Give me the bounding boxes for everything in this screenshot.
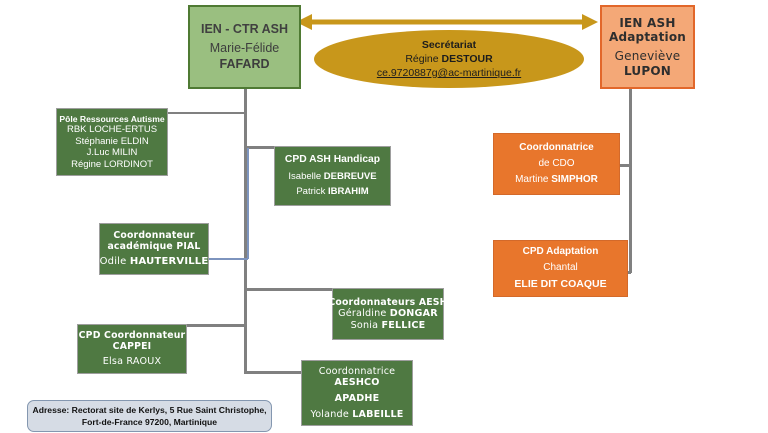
- node-cdo-person: Martine SIMPHOR: [515, 174, 598, 186]
- connector-branch-pole-autisme: [168, 112, 246, 114]
- node-secretariat-person-last: DESTOUR: [442, 53, 493, 65]
- node-coordonnateurs-aesh[interactable]: Coordonnateurs AESH Géraldine DONGAR Son…: [332, 288, 444, 340]
- node-coord-aesh-member-1-first: Sonia: [351, 320, 379, 331]
- node-ien-ash-adaptation-title-2: Adaptation: [609, 30, 686, 45]
- node-ien-ctr-ash[interactable]: IEN - CTR ASH Marie-Félide FAFARD: [188, 5, 301, 89]
- node-coord-aesh-title: Coordonnateurs AESH: [328, 297, 447, 308]
- node-coord-aesh-member-0: Géraldine DONGAR: [338, 308, 438, 320]
- node-cappei-person-first: Elsa: [103, 356, 123, 367]
- node-cpd-adaptation-title: CPD Adaptation: [523, 246, 599, 258]
- node-ien-ash-adaptation-person-last: LUPON: [624, 64, 671, 79]
- connector-branch-pial: [205, 258, 248, 260]
- address-line-2: Fort-de-France 97200, Martinique: [82, 416, 217, 428]
- node-ien-ctr-ash-person-first: Marie-Félide: [210, 41, 279, 56]
- node-cpd-coordonnateur-cappei[interactable]: CPD Coordonnateur CAPPEI Elsa RAOUX: [77, 324, 187, 374]
- node-cappei-title-1: CPD Coordonnateur: [79, 330, 186, 341]
- node-cpd-handicap-member-1-last: IBRAHIM: [328, 186, 369, 197]
- node-cpd-handicap-title: CPD ASH Handicap: [285, 154, 380, 167]
- node-coordonnateur-pial[interactable]: Coordonnateur académique PIAL Odile HAUT…: [99, 223, 209, 275]
- node-coordonnatrice-aeshco[interactable]: Coordonnatrice AESHCO APADHE Yolande LAB…: [301, 360, 413, 426]
- node-cpd-adaptation[interactable]: CPD Adaptation Chantal ELIE DIT COAQUE: [493, 240, 628, 297]
- node-ien-ash-adaptation-person-first: Geneviève: [615, 49, 681, 64]
- node-cdo-title-1: Coordonnatrice: [519, 142, 593, 154]
- address-box: Adresse: Rectorat site de Kerlys, 5 Rue …: [27, 400, 272, 432]
- node-pial-person: Odile HAUTERVILLE: [100, 256, 209, 268]
- node-cpd-adaptation-person-last: ELIE DIT COAQUE: [514, 278, 606, 291]
- node-cpd-handicap-member-0-first: Isabelle: [288, 171, 321, 182]
- node-aeshco-title-2: AESHCO: [334, 377, 379, 389]
- node-cdo-person-first: Martine: [515, 174, 548, 185]
- node-aeshco-person-last: LABEILLE: [352, 409, 403, 420]
- node-pial-title-2: académique PIAL: [107, 241, 200, 252]
- node-cpd-handicap-member-0-last: DEBREUVE: [324, 171, 377, 182]
- node-aeshco-title-3: APADHE: [335, 393, 380, 405]
- org-chart-canvas: IEN - CTR ASH Marie-Félide FAFARD IEN AS…: [0, 0, 768, 433]
- node-aeshco-person: Yolande LABEILLE: [310, 409, 403, 421]
- node-secretariat-title: Secrétariat: [422, 38, 476, 52]
- node-pial-person-first: Odile: [100, 256, 127, 267]
- node-pole-ressources-autisme[interactable]: Pôle Ressources Autisme RBK LOCHE-ERTUS …: [56, 108, 168, 176]
- node-pole-autisme-member-2: J.Luc MILIN: [87, 147, 138, 159]
- node-aeshco-title-1: Coordonnatrice: [319, 366, 396, 378]
- node-pole-autisme-member-0: RBK LOCHE-ERTUS: [67, 124, 157, 136]
- node-coordonnatrice-cdo[interactable]: Coordonnatrice de CDO Martine SIMPHOR: [493, 133, 620, 195]
- node-cappei-person-last: RAOUX: [126, 356, 161, 367]
- node-secretariat[interactable]: Secrétariat Régine DESTOUR ce.9720887g@a…: [314, 30, 584, 88]
- connector-branch-coord-aesh: [244, 288, 334, 291]
- node-cpd-handicap-member-0: Isabelle DEBREUVE: [288, 171, 376, 183]
- node-aeshco-person-first: Yolande: [310, 409, 348, 420]
- node-pole-autisme-member-3: Régine LORDINOT: [71, 159, 153, 171]
- node-coord-aesh-member-0-first: Géraldine: [338, 308, 386, 319]
- node-secretariat-person: Régine DESTOUR: [405, 52, 492, 66]
- connector-branch-coord-cdo: [619, 164, 631, 167]
- node-secretariat-person-first: Régine: [405, 53, 438, 65]
- node-ien-ash-adaptation[interactable]: IEN ASH Adaptation Geneviève LUPON: [600, 5, 695, 89]
- node-coord-aesh-member-1: Sonia FELLICE: [351, 320, 426, 332]
- node-cappei-title-2: CAPPEI: [113, 341, 152, 352]
- connector-right-trunk: [629, 88, 632, 273]
- node-cpd-ash-handicap[interactable]: CPD ASH Handicap Isabelle DEBREUVE Patri…: [274, 146, 391, 206]
- node-ien-ctr-ash-title: IEN - CTR ASH: [201, 22, 288, 37]
- node-cpd-adaptation-person-first: Chantal: [543, 262, 577, 274]
- connector-branch-cappei: [187, 324, 245, 327]
- connector-branch-aeshco: [244, 371, 302, 374]
- node-pial-person-last: HAUTERVILLE: [130, 256, 209, 267]
- node-pial-title-1: Coordonnateur: [113, 230, 194, 241]
- connector-secondary-vertical: [247, 148, 249, 259]
- node-pole-autisme-title: Pôle Ressources Autisme: [59, 114, 164, 124]
- node-cdo-person-last: SIMPHOR: [551, 174, 598, 185]
- address-line-1: Adresse: Rectorat site de Kerlys, 5 Rue …: [32, 404, 266, 416]
- node-cappei-person: Elsa RAOUX: [103, 356, 161, 368]
- connector-branch-cpd-handicap: [244, 146, 276, 149]
- node-ien-ash-adaptation-title-1: IEN ASH: [619, 16, 675, 31]
- node-ien-ctr-ash-person-last: FAFARD: [220, 57, 270, 72]
- node-cpd-handicap-member-1-first: Patrick: [296, 186, 325, 197]
- node-cpd-handicap-member-1: Patrick IBRAHIM: [296, 186, 368, 198]
- node-pole-autisme-member-1: Stéphanie ELDIN: [75, 136, 148, 148]
- node-coord-aesh-member-1-last: FELLICE: [381, 320, 425, 331]
- node-cdo-title-2: de CDO: [538, 158, 574, 170]
- node-secretariat-email[interactable]: ce.9720887g@ac-martinique.fr: [377, 66, 521, 80]
- node-coord-aesh-member-0-last: DONGAR: [390, 308, 438, 319]
